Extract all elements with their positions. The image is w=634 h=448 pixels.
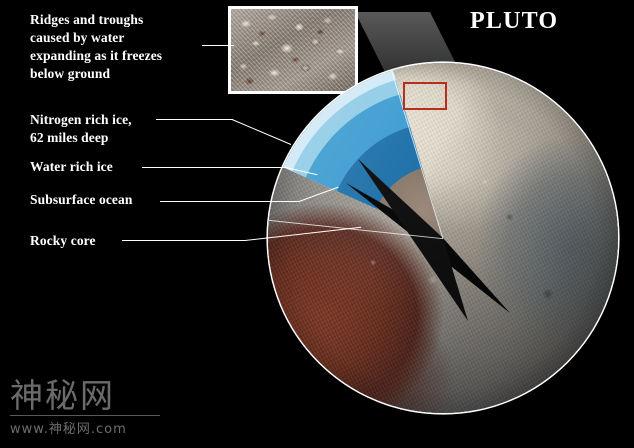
watermark: 神秘网 www.神秘网.com bbox=[10, 378, 160, 437]
watermark-url: www.神秘网.com bbox=[10, 418, 160, 437]
label-nitrogen-rich-ice: Nitrogen rich ice, 62 miles deep bbox=[30, 111, 210, 147]
label-subsurface-ocean: Subsurface ocean bbox=[30, 191, 220, 209]
watermark-name: 神秘网 bbox=[10, 378, 160, 414]
leader-line-core-horizontal bbox=[122, 240, 246, 241]
leader-line-nitrogen-horizontal bbox=[156, 119, 233, 120]
pluto-globe bbox=[268, 63, 618, 413]
diagram-canvas: PLUTO Ridges and troughs caused by water… bbox=[0, 0, 634, 448]
label-ridges-and-troughs: Ridges and troughs caused by water expan… bbox=[30, 11, 205, 83]
roi-rectangle bbox=[403, 82, 447, 110]
watermark-divider bbox=[10, 415, 160, 416]
leader-line-ridges bbox=[202, 45, 234, 46]
page-title: PLUTO bbox=[470, 8, 558, 35]
leader-line-water-ice-horizontal bbox=[142, 167, 287, 168]
leader-line-ocean-horizontal bbox=[160, 201, 300, 202]
